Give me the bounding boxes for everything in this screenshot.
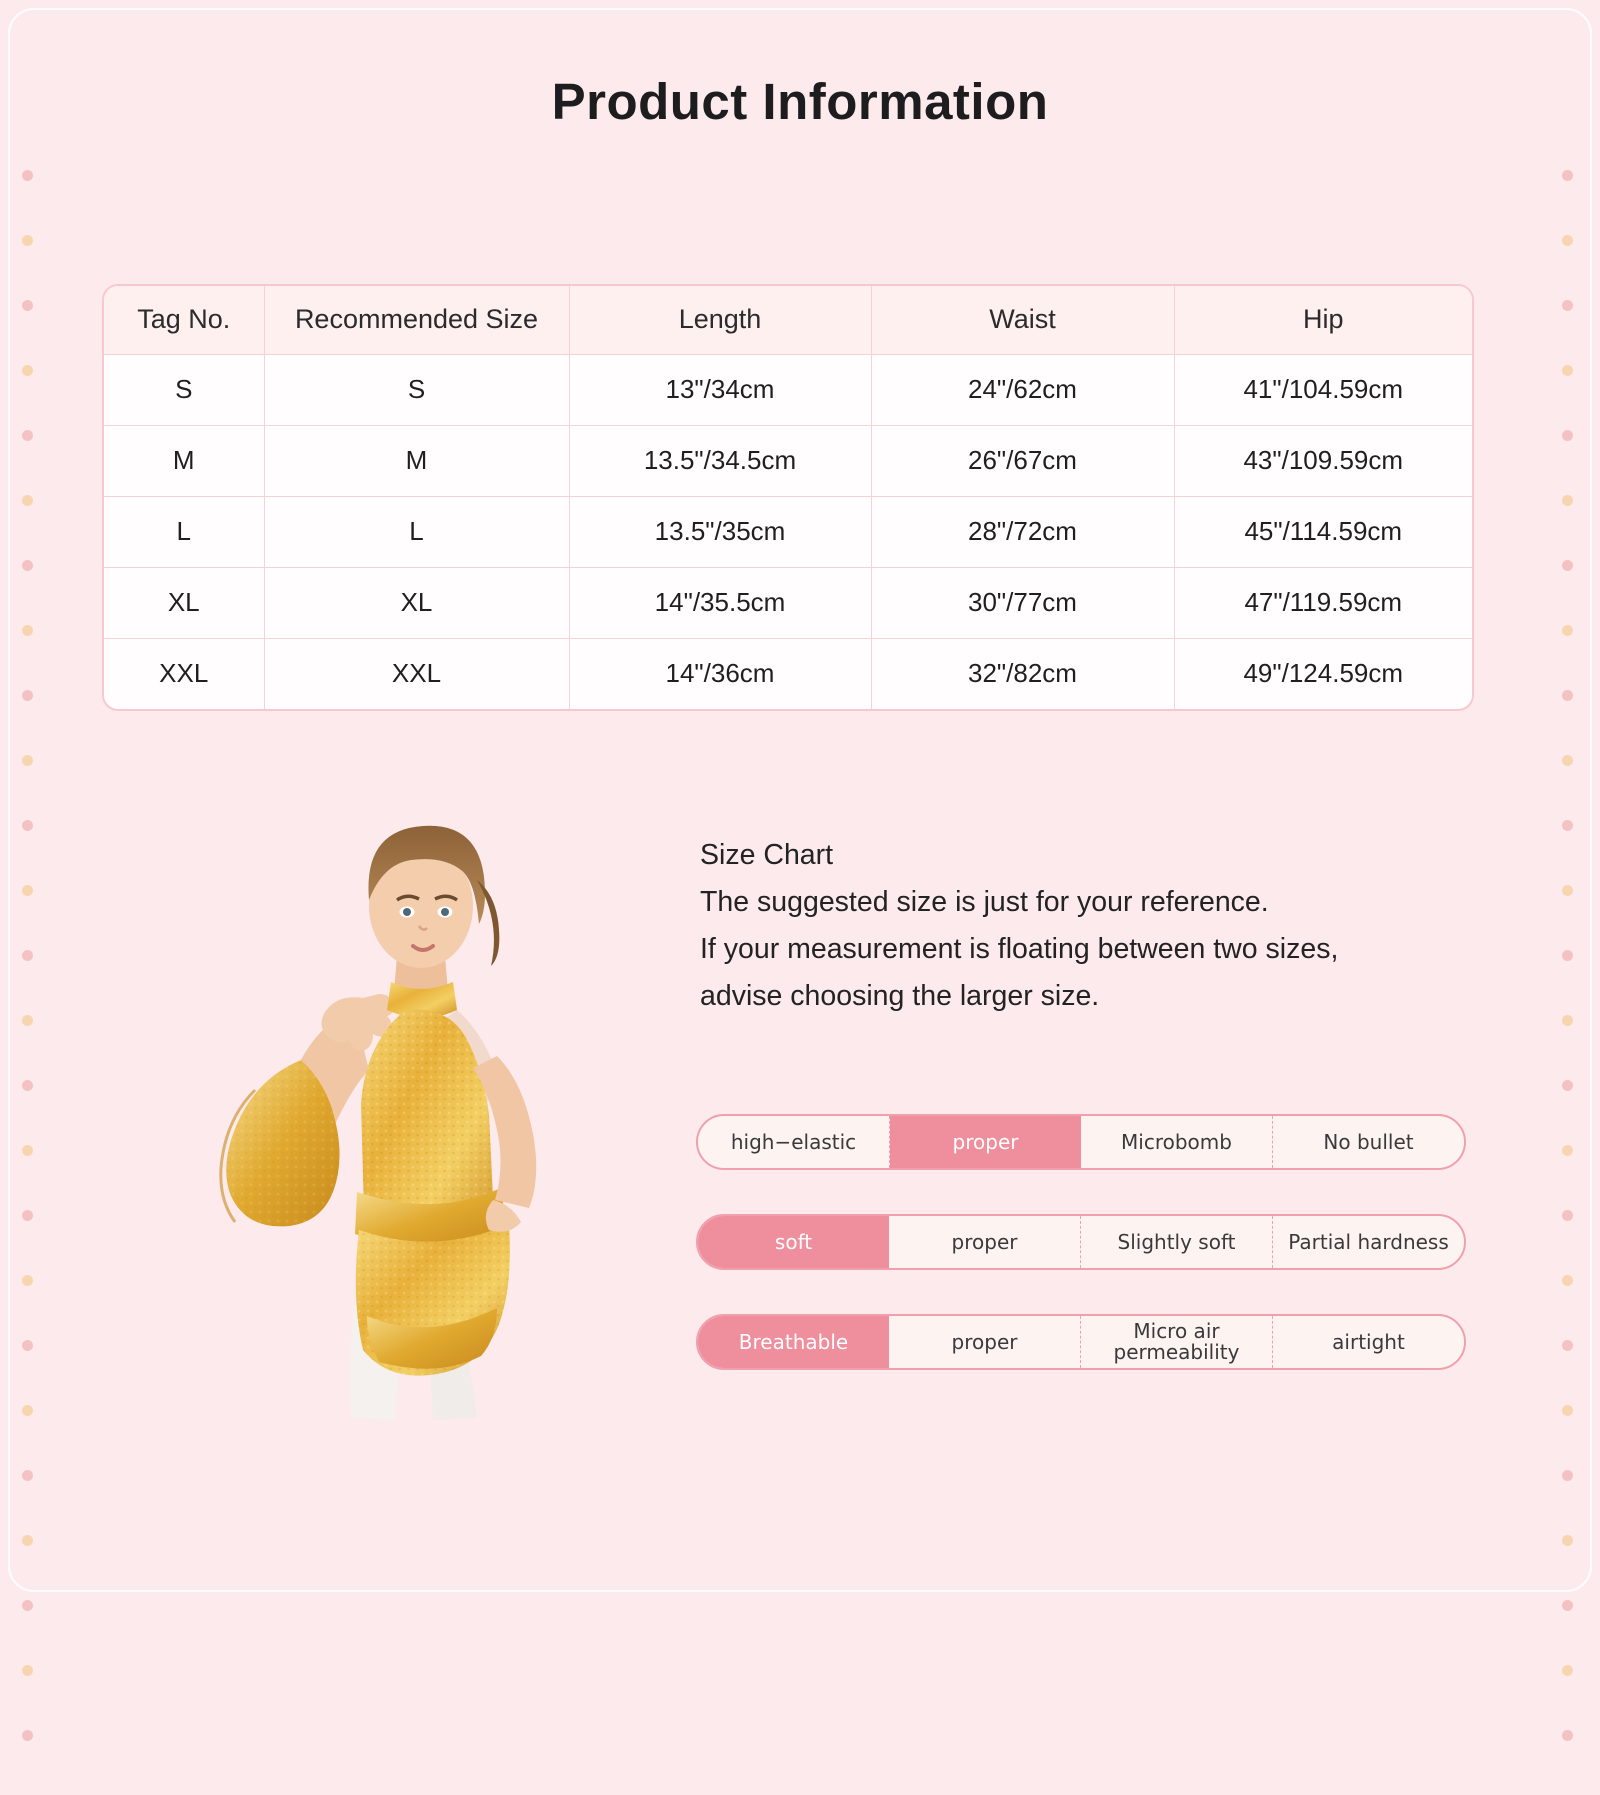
table-cell: 41"/104.59cm xyxy=(1174,354,1472,425)
table-cell: 45"/114.59cm xyxy=(1174,496,1472,567)
property-bars: high−elastic proper Microbomb No bullet … xyxy=(696,1114,1466,1414)
table-cell: 14"/35.5cm xyxy=(569,567,871,638)
decorative-dot xyxy=(22,625,33,636)
decorative-dot xyxy=(22,1600,33,1611)
property-segment-breathable[interactable]: Breathable xyxy=(698,1316,889,1368)
decorative-dot xyxy=(22,1015,33,1026)
property-segment-partial-hardness[interactable]: Partial hardness xyxy=(1273,1216,1464,1268)
table-cell: L xyxy=(264,496,569,567)
decorative-dot xyxy=(1562,1080,1573,1091)
decorative-dot xyxy=(22,1470,33,1481)
table-row: L L 13.5"/35cm 28"/72cm 45"/114.59cm xyxy=(104,496,1472,567)
decorative-dot xyxy=(22,430,33,441)
decorative-dot xyxy=(1562,1535,1573,1546)
model-photo xyxy=(105,760,635,1420)
property-segment-no-bullet[interactable]: No bullet xyxy=(1273,1116,1464,1168)
notes-line-3: advise choosing the larger size. xyxy=(700,973,1500,1020)
notes-line-2: If your measurement is floating between … xyxy=(700,926,1500,973)
table-cell: 14"/36cm xyxy=(569,638,871,709)
decorative-dots-left xyxy=(22,170,38,1795)
property-bar-elasticity: high−elastic proper Microbomb No bullet xyxy=(696,1114,1466,1170)
decorative-dot xyxy=(22,820,33,831)
table-cell: S xyxy=(104,354,264,425)
property-segment-microbomb[interactable]: Microbomb xyxy=(1081,1116,1273,1168)
table-cell: 47"/119.59cm xyxy=(1174,567,1472,638)
property-segment-proper[interactable]: proper xyxy=(889,1316,1081,1368)
table-cell: M xyxy=(104,425,264,496)
decorative-dot xyxy=(22,235,33,246)
property-segment-soft[interactable]: soft xyxy=(698,1216,889,1268)
decorative-dot xyxy=(22,1665,33,1676)
table-cell: 13"/34cm xyxy=(569,354,871,425)
decorative-dot xyxy=(22,1145,33,1156)
table-header-cell: Tag No. xyxy=(104,286,264,354)
property-segment-slightly-soft[interactable]: Slightly soft xyxy=(1081,1216,1273,1268)
decorative-dot xyxy=(22,1730,33,1741)
table-cell: 24"/62cm xyxy=(871,354,1174,425)
decorative-dot xyxy=(1562,1665,1573,1676)
property-segment-proper[interactable]: proper xyxy=(889,1216,1081,1268)
table-header-cell: Recommended Size xyxy=(264,286,569,354)
table-cell: 32"/82cm xyxy=(871,638,1174,709)
decorative-dot xyxy=(22,950,33,961)
decorative-dot xyxy=(22,560,33,571)
property-bar-softness: soft proper Slightly soft Partial hardne… xyxy=(696,1214,1466,1270)
table-row: XXL XXL 14"/36cm 32"/82cm 49"/124.59cm xyxy=(104,638,1472,709)
decorative-dot xyxy=(22,1535,33,1546)
decorative-dot xyxy=(1562,170,1573,181)
decorative-dot xyxy=(22,690,33,701)
decorative-dot xyxy=(1562,235,1573,246)
decorative-dot xyxy=(1562,560,1573,571)
decorative-dot xyxy=(1562,495,1573,506)
decorative-dot xyxy=(22,755,33,766)
notes-heading: Size Chart xyxy=(700,832,1500,879)
property-segment-micro-air-permeability[interactable]: Micro air permeability xyxy=(1081,1316,1273,1368)
table-header-cell: Hip xyxy=(1174,286,1472,354)
decorative-dot xyxy=(1562,300,1573,311)
table-row: M M 13.5"/34.5cm 26"/67cm 43"/109.59cm xyxy=(104,425,1472,496)
table-cell: L xyxy=(104,496,264,567)
decorative-dot xyxy=(1562,1405,1573,1416)
table-cell: 30"/77cm xyxy=(871,567,1174,638)
decorative-dot xyxy=(22,1210,33,1221)
decorative-dot xyxy=(1562,950,1573,961)
decorative-dot xyxy=(22,1080,33,1091)
size-table: Tag No. Recommended Size Length Waist Hi… xyxy=(104,286,1472,709)
decorative-dot xyxy=(1562,885,1573,896)
page-title: Product Information xyxy=(0,72,1600,131)
table-cell: S xyxy=(264,354,569,425)
table-cell: M xyxy=(264,425,569,496)
table-cell: 13.5"/35cm xyxy=(569,496,871,567)
decorative-dots-right xyxy=(1562,170,1578,1795)
table-header-cell: Waist xyxy=(871,286,1174,354)
decorative-dot xyxy=(22,1340,33,1351)
decorative-dot xyxy=(1562,625,1573,636)
table-cell: XXL xyxy=(264,638,569,709)
table-cell: 43"/109.59cm xyxy=(1174,425,1472,496)
decorative-dot xyxy=(22,300,33,311)
table-cell: 28"/72cm xyxy=(871,496,1174,567)
notes-line-1: The suggested size is just for your refe… xyxy=(700,879,1500,926)
property-bar-breathability: Breathable proper Micro air permeability… xyxy=(696,1314,1466,1370)
decorative-dot xyxy=(1562,1340,1573,1351)
decorative-dot xyxy=(22,170,33,181)
decorative-dot xyxy=(1562,365,1573,376)
table-header-cell: Length xyxy=(569,286,871,354)
size-chart-notes: Size Chart The suggested size is just fo… xyxy=(700,832,1500,1020)
table-cell: XL xyxy=(104,567,264,638)
table-row: XL XL 14"/35.5cm 30"/77cm 47"/119.59cm xyxy=(104,567,1472,638)
decorative-dot xyxy=(1562,430,1573,441)
property-segment-airtight[interactable]: airtight xyxy=(1273,1316,1464,1368)
decorative-dot xyxy=(1562,690,1573,701)
table-cell: 26"/67cm xyxy=(871,425,1174,496)
table-cell: XL xyxy=(264,567,569,638)
size-table-container: Tag No. Recommended Size Length Waist Hi… xyxy=(102,284,1474,711)
decorative-dot xyxy=(1562,820,1573,831)
table-cell: 13.5"/34.5cm xyxy=(569,425,871,496)
decorative-dot xyxy=(1562,1145,1573,1156)
decorative-dot xyxy=(22,495,33,506)
table-row: S S 13"/34cm 24"/62cm 41"/104.59cm xyxy=(104,354,1472,425)
decorative-dot xyxy=(1562,1210,1573,1221)
decorative-dot xyxy=(1562,755,1573,766)
decorative-dot xyxy=(1562,1470,1573,1481)
property-segment-proper[interactable]: proper xyxy=(890,1116,1081,1168)
decorative-dot xyxy=(1562,1015,1573,1026)
property-segment-high-elastic[interactable]: high−elastic xyxy=(698,1116,890,1168)
table-cell: 49"/124.59cm xyxy=(1174,638,1472,709)
decorative-dot xyxy=(1562,1600,1573,1611)
table-header-row: Tag No. Recommended Size Length Waist Hi… xyxy=(104,286,1472,354)
table-cell: XXL xyxy=(104,638,264,709)
decorative-dot xyxy=(22,1405,33,1416)
decorative-dot xyxy=(1562,1275,1573,1286)
decorative-dot xyxy=(22,885,33,896)
decorative-dot xyxy=(1562,1730,1573,1741)
decorative-dot xyxy=(22,365,33,376)
decorative-dot xyxy=(22,1275,33,1286)
